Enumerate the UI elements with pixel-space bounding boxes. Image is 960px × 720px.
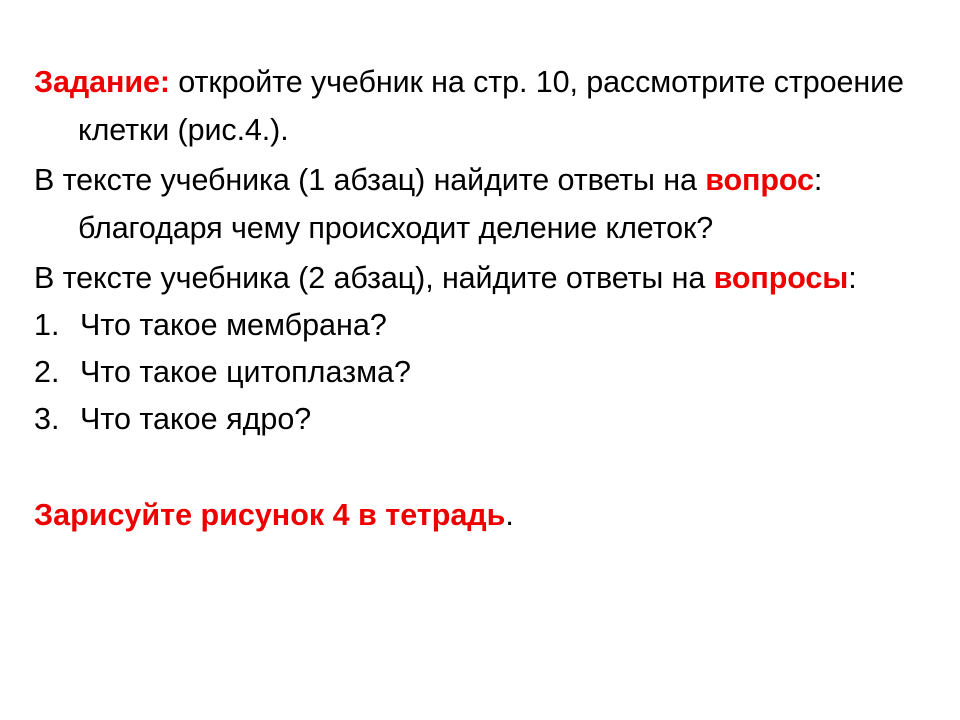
list-item-label: Что такое цитоплазма?	[80, 349, 924, 396]
list-item: 2. Что такое цитоплазма?	[34, 349, 924, 396]
final-instruction-period: .	[505, 498, 513, 532]
question-one-prefix: В тексте учебника (1 абзац) найдите отве…	[34, 163, 705, 197]
questions-intro-suffix: :	[848, 261, 856, 295]
list-item: 1. Что такое мембрана?	[34, 302, 924, 349]
assignment-body: откройте учебник на стр. 10, рассмотрите…	[78, 65, 904, 147]
list-item-number: 3.	[34, 396, 80, 443]
questions-intro-highlight: вопросы	[714, 261, 849, 295]
paragraph-assignment: Задание: откройте учебник на стр. 10, ра…	[34, 58, 924, 154]
list-item-number: 2.	[34, 349, 80, 396]
list-item-label: Что такое мембрана?	[80, 302, 924, 349]
blank-line-spacer	[34, 443, 924, 491]
questions-list: 1. Что такое мембрана? 2. Что такое цито…	[34, 302, 924, 443]
final-instruction-highlight: Зарисуйте рисунок 4 в тетрадь	[34, 498, 505, 532]
slide-canvas: Задание: откройте учебник на стр. 10, ра…	[0, 0, 960, 720]
assignment-label: Задание:	[34, 65, 170, 99]
list-item: 3. Что такое ядро?	[34, 396, 924, 443]
list-item-number: 1.	[34, 302, 80, 349]
paragraph-questions-intro: В тексте учебника (2 абзац), найдите отв…	[34, 254, 924, 302]
list-item-label: Что такое ядро?	[80, 396, 924, 443]
slide-body-text: Задание: откройте учебник на стр. 10, ра…	[34, 58, 924, 539]
question-one-highlight: вопрос	[705, 163, 814, 197]
paragraph-question-one: В тексте учебника (1 абзац) найдите отве…	[34, 156, 924, 252]
final-instruction: Зарисуйте рисунок 4 в тетрадь.	[34, 491, 924, 539]
questions-intro-prefix: В тексте учебника (2 абзац), найдите отв…	[34, 261, 714, 295]
